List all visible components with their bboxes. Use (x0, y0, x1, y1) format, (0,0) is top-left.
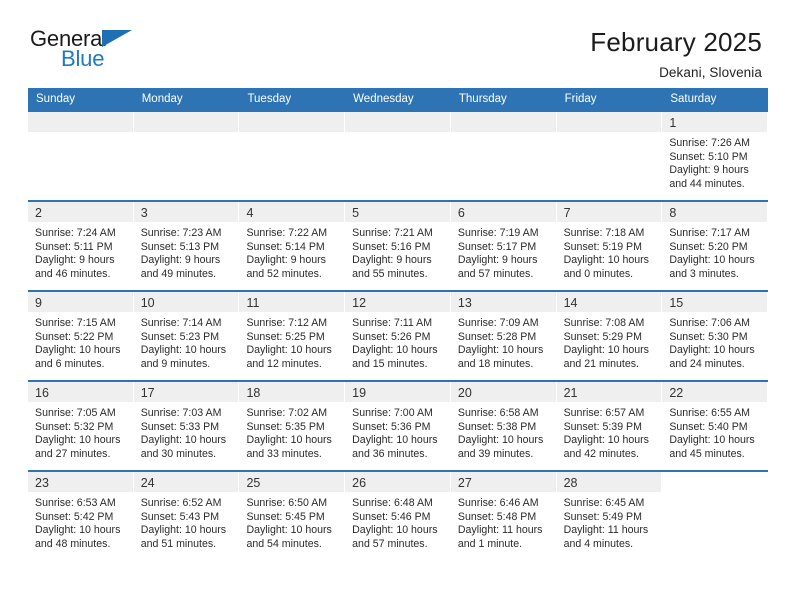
calendar-day-cell-empty (451, 112, 557, 200)
calendar-week-row: 23Sunrise: 6:53 AMSunset: 5:42 PMDayligh… (28, 470, 768, 560)
day-number: 13 (451, 292, 556, 312)
sunset-text: Sunset: 5:38 PM (458, 421, 549, 435)
day-number-band: 6 (451, 202, 556, 222)
day-number: 23 (28, 472, 133, 492)
day-number: 17 (134, 382, 239, 402)
sunrise-text: Sunrise: 7:00 AM (352, 407, 443, 421)
sunrise-text: Sunrise: 7:14 AM (141, 317, 232, 331)
day-number-band: 13 (451, 292, 556, 312)
day-number: 15 (662, 292, 767, 312)
sunrise-text: Sunrise: 7:09 AM (458, 317, 549, 331)
day-number-band: 28 (557, 472, 662, 492)
daylight-text: Daylight: 10 hours and 27 minutes. (35, 434, 126, 461)
daylight-text: Daylight: 9 hours and 49 minutes. (141, 254, 232, 281)
day-number-band (239, 112, 344, 132)
sunrise-text: Sunrise: 6:46 AM (458, 497, 549, 511)
day-sun-info: Sunrise: 6:57 AMSunset: 5:39 PMDaylight:… (557, 402, 663, 461)
daylight-text: Daylight: 10 hours and 51 minutes. (141, 524, 232, 551)
day-number-band (134, 112, 239, 132)
calendar-day-cell[interactable]: 1Sunrise: 7:26 AMSunset: 5:10 PMDaylight… (662, 112, 768, 200)
daylight-text: Daylight: 10 hours and 54 minutes. (246, 524, 337, 551)
day-number: 3 (134, 202, 239, 222)
daylight-text: Daylight: 10 hours and 33 minutes. (246, 434, 337, 461)
sunset-text: Sunset: 5:23 PM (141, 331, 232, 345)
weekday-header-row: Sunday Monday Tuesday Wednesday Thursday… (28, 88, 768, 110)
day-sun-info: Sunrise: 7:08 AMSunset: 5:29 PMDaylight:… (557, 312, 663, 371)
calendar-day-cell[interactable]: 23Sunrise: 6:53 AMSunset: 5:42 PMDayligh… (28, 472, 134, 560)
calendar-day-cell[interactable]: 25Sunrise: 6:50 AMSunset: 5:45 PMDayligh… (239, 472, 345, 560)
sunrise-text: Sunrise: 7:23 AM (141, 227, 232, 241)
day-number: 26 (345, 472, 450, 492)
sunset-text: Sunset: 5:29 PM (564, 331, 655, 345)
calendar-day-cell-empty (662, 472, 768, 560)
day-sun-info: Sunrise: 7:15 AMSunset: 5:22 PMDaylight:… (28, 312, 134, 371)
daylight-text: Daylight: 9 hours and 57 minutes. (458, 254, 549, 281)
sunset-text: Sunset: 5:10 PM (669, 151, 760, 165)
calendar-day-cell-empty (345, 112, 451, 200)
day-sun-info: Sunrise: 7:02 AMSunset: 5:35 PMDaylight:… (239, 402, 345, 461)
day-number (557, 112, 662, 114)
day-number: 6 (451, 202, 556, 222)
calendar-day-cell[interactable]: 22Sunrise: 6:55 AMSunset: 5:40 PMDayligh… (662, 382, 768, 470)
sunrise-text: Sunrise: 6:48 AM (352, 497, 443, 511)
sunrise-text: Sunrise: 6:52 AM (141, 497, 232, 511)
sunset-text: Sunset: 5:19 PM (564, 241, 655, 255)
day-sun-info: Sunrise: 7:06 AMSunset: 5:30 PMDaylight:… (662, 312, 768, 371)
calendar-day-cell[interactable]: 24Sunrise: 6:52 AMSunset: 5:43 PMDayligh… (134, 472, 240, 560)
daylight-text: Daylight: 10 hours and 42 minutes. (564, 434, 655, 461)
sunrise-text: Sunrise: 6:50 AM (246, 497, 337, 511)
day-number (239, 112, 344, 114)
day-number-band (345, 112, 450, 132)
daylight-text: Daylight: 9 hours and 55 minutes. (352, 254, 443, 281)
day-number: 2 (28, 202, 133, 222)
sunrise-text: Sunrise: 7:22 AM (246, 227, 337, 241)
day-number-band: 16 (28, 382, 133, 402)
calendar-day-cell-empty (239, 112, 345, 200)
triangle-icon (102, 30, 132, 47)
sunrise-text: Sunrise: 7:12 AM (246, 317, 337, 331)
calendar-day-cell[interactable]: 14Sunrise: 7:08 AMSunset: 5:29 PMDayligh… (557, 292, 663, 380)
day-number-band: 22 (662, 382, 767, 402)
day-number-band: 25 (239, 472, 344, 492)
day-number: 21 (557, 382, 662, 402)
calendar-day-cell[interactable]: 26Sunrise: 6:48 AMSunset: 5:46 PMDayligh… (345, 472, 451, 560)
calendar-day-cell[interactable]: 18Sunrise: 7:02 AMSunset: 5:35 PMDayligh… (239, 382, 345, 470)
day-sun-info: Sunrise: 7:23 AMSunset: 5:13 PMDaylight:… (134, 222, 240, 281)
day-number: 8 (662, 202, 767, 222)
sunrise-text: Sunrise: 6:45 AM (564, 497, 655, 511)
calendar-day-cell[interactable]: 15Sunrise: 7:06 AMSunset: 5:30 PMDayligh… (662, 292, 768, 380)
sunset-text: Sunset: 5:36 PM (352, 421, 443, 435)
sunrise-text: Sunrise: 7:24 AM (35, 227, 126, 241)
weekday-header-monday: Monday (134, 88, 240, 110)
daylight-text: Daylight: 11 hours and 1 minute. (458, 524, 549, 551)
day-sun-info: Sunrise: 6:48 AMSunset: 5:46 PMDaylight:… (345, 492, 451, 551)
sunset-text: Sunset: 5:32 PM (35, 421, 126, 435)
daylight-text: Daylight: 10 hours and 45 minutes. (669, 434, 760, 461)
daylight-text: Daylight: 10 hours and 36 minutes. (352, 434, 443, 461)
calendar-day-cell-empty (134, 112, 240, 200)
weekday-header-sunday: Sunday (28, 88, 134, 110)
day-number-band: 19 (345, 382, 450, 402)
weekday-header-saturday: Saturday (662, 88, 768, 110)
sunset-text: Sunset: 5:14 PM (246, 241, 337, 255)
day-number-band: 4 (239, 202, 344, 222)
sunrise-text: Sunrise: 7:18 AM (564, 227, 655, 241)
daylight-text: Daylight: 10 hours and 39 minutes. (458, 434, 549, 461)
sunset-text: Sunset: 5:11 PM (35, 241, 126, 255)
sunset-text: Sunset: 5:28 PM (458, 331, 549, 345)
day-number-band: 12 (345, 292, 450, 312)
calendar-day-cell[interactable]: 20Sunrise: 6:58 AMSunset: 5:38 PMDayligh… (451, 382, 557, 470)
weekday-header-friday: Friday (557, 88, 663, 110)
day-number-band: 3 (134, 202, 239, 222)
day-number-band: 1 (662, 112, 767, 132)
page-header: General Blue February 2025 Dekani, Slove… (0, 0, 792, 78)
calendar-day-cell[interactable]: 17Sunrise: 7:03 AMSunset: 5:33 PMDayligh… (134, 382, 240, 470)
day-number-band (557, 112, 662, 132)
day-sun-info: Sunrise: 7:14 AMSunset: 5:23 PMDaylight:… (134, 312, 240, 371)
sunrise-text: Sunrise: 7:21 AM (352, 227, 443, 241)
daylight-text: Daylight: 10 hours and 18 minutes. (458, 344, 549, 371)
sunrise-text: Sunrise: 7:19 AM (458, 227, 549, 241)
day-sun-info: Sunrise: 6:52 AMSunset: 5:43 PMDaylight:… (134, 492, 240, 551)
general-blue-logo[interactable]: General Blue (30, 26, 150, 74)
day-number: 28 (557, 472, 662, 492)
day-sun-info: Sunrise: 6:46 AMSunset: 5:48 PMDaylight:… (451, 492, 557, 551)
sunset-text: Sunset: 5:42 PM (35, 511, 126, 525)
calendar-day-cell-empty (28, 112, 134, 200)
sunrise-text: Sunrise: 7:06 AM (669, 317, 760, 331)
calendar-day-cell[interactable]: 12Sunrise: 7:11 AMSunset: 5:26 PMDayligh… (345, 292, 451, 380)
day-number: 14 (557, 292, 662, 312)
daylight-text: Daylight: 10 hours and 57 minutes. (352, 524, 443, 551)
day-sun-info: Sunrise: 6:53 AMSunset: 5:42 PMDaylight:… (28, 492, 134, 551)
sunset-text: Sunset: 5:33 PM (141, 421, 232, 435)
sunset-text: Sunset: 5:45 PM (246, 511, 337, 525)
daylight-text: Daylight: 10 hours and 24 minutes. (669, 344, 760, 371)
day-number-band: 14 (557, 292, 662, 312)
day-number: 19 (345, 382, 450, 402)
sunset-text: Sunset: 5:22 PM (35, 331, 126, 345)
page-subtitle: Dekani, Slovenia (590, 65, 762, 80)
day-sun-info: Sunrise: 7:09 AMSunset: 5:28 PMDaylight:… (451, 312, 557, 371)
sunrise-text: Sunrise: 7:05 AM (35, 407, 126, 421)
day-number-band (28, 112, 133, 132)
day-number-band (662, 472, 767, 492)
day-sun-info: Sunrise: 6:55 AMSunset: 5:40 PMDaylight:… (662, 402, 768, 461)
calendar-day-cell[interactable]: 4Sunrise: 7:22 AMSunset: 5:14 PMDaylight… (239, 202, 345, 290)
day-sun-info: Sunrise: 7:21 AMSunset: 5:16 PMDaylight:… (345, 222, 451, 281)
calendar-week-row: 16Sunrise: 7:05 AMSunset: 5:32 PMDayligh… (28, 380, 768, 470)
sunrise-text: Sunrise: 7:08 AM (564, 317, 655, 331)
daylight-text: Daylight: 10 hours and 0 minutes. (564, 254, 655, 281)
day-number (451, 112, 556, 114)
day-number: 16 (28, 382, 133, 402)
day-sun-info: Sunrise: 6:58 AMSunset: 5:38 PMDaylight:… (451, 402, 557, 461)
day-sun-info: Sunrise: 6:50 AMSunset: 5:45 PMDaylight:… (239, 492, 345, 551)
sunrise-text: Sunrise: 7:15 AM (35, 317, 126, 331)
calendar-week-row: 9Sunrise: 7:15 AMSunset: 5:22 PMDaylight… (28, 290, 768, 380)
day-number (134, 112, 239, 114)
sunset-text: Sunset: 5:25 PM (246, 331, 337, 345)
daylight-text: Daylight: 10 hours and 9 minutes. (141, 344, 232, 371)
day-sun-info: Sunrise: 7:18 AMSunset: 5:19 PMDaylight:… (557, 222, 663, 281)
sunrise-text: Sunrise: 7:26 AM (669, 137, 760, 151)
calendar-day-cell[interactable]: 9Sunrise: 7:15 AMSunset: 5:22 PMDaylight… (28, 292, 134, 380)
day-sun-info: Sunrise: 7:19 AMSunset: 5:17 PMDaylight:… (451, 222, 557, 281)
day-number-band: 15 (662, 292, 767, 312)
weekday-header-wednesday: Wednesday (345, 88, 451, 110)
day-number-band: 18 (239, 382, 344, 402)
day-number: 5 (345, 202, 450, 222)
day-sun-info: Sunrise: 7:05 AMSunset: 5:32 PMDaylight:… (28, 402, 134, 461)
sunrise-text: Sunrise: 6:57 AM (564, 407, 655, 421)
sunset-text: Sunset: 5:48 PM (458, 511, 549, 525)
day-sun-info: Sunrise: 7:22 AMSunset: 5:14 PMDaylight:… (239, 222, 345, 281)
day-number: 27 (451, 472, 556, 492)
day-number (28, 112, 133, 114)
calendar-day-cell-empty (557, 112, 663, 200)
calendar-day-cell[interactable]: 27Sunrise: 6:46 AMSunset: 5:48 PMDayligh… (451, 472, 557, 560)
sunrise-text: Sunrise: 6:58 AM (458, 407, 549, 421)
day-number-band: 7 (557, 202, 662, 222)
sunrise-text: Sunrise: 7:17 AM (669, 227, 760, 241)
calendar-day-cell[interactable]: 19Sunrise: 7:00 AMSunset: 5:36 PMDayligh… (345, 382, 451, 470)
sunrise-text: Sunrise: 7:02 AM (246, 407, 337, 421)
day-number: 1 (662, 112, 767, 132)
sunset-text: Sunset: 5:17 PM (458, 241, 549, 255)
calendar-day-cell[interactable]: 10Sunrise: 7:14 AMSunset: 5:23 PMDayligh… (134, 292, 240, 380)
day-sun-info: Sunrise: 7:12 AMSunset: 5:25 PMDaylight:… (239, 312, 345, 371)
day-number (345, 112, 450, 114)
day-number-band: 11 (239, 292, 344, 312)
day-number-band: 27 (451, 472, 556, 492)
logo-text-blue: Blue (61, 46, 104, 72)
calendar-week-row: 1Sunrise: 7:26 AMSunset: 5:10 PMDaylight… (28, 110, 768, 200)
day-number-band: 17 (134, 382, 239, 402)
day-number-band: 20 (451, 382, 556, 402)
day-number: 24 (134, 472, 239, 492)
day-number-band: 23 (28, 472, 133, 492)
day-sun-info: Sunrise: 7:03 AMSunset: 5:33 PMDaylight:… (134, 402, 240, 461)
day-sun-info: Sunrise: 7:24 AMSunset: 5:11 PMDaylight:… (28, 222, 134, 281)
daylight-text: Daylight: 10 hours and 15 minutes. (352, 344, 443, 371)
day-sun-info: Sunrise: 6:45 AMSunset: 5:49 PMDaylight:… (557, 492, 663, 551)
calendar-grid: Sunday Monday Tuesday Wednesday Thursday… (28, 88, 768, 560)
daylight-text: Daylight: 9 hours and 52 minutes. (246, 254, 337, 281)
day-number: 25 (239, 472, 344, 492)
sunset-text: Sunset: 5:20 PM (669, 241, 760, 255)
day-number-band: 8 (662, 202, 767, 222)
calendar-weeks: 1Sunrise: 7:26 AMSunset: 5:10 PMDaylight… (28, 110, 768, 560)
calendar-day-cell[interactable]: 3Sunrise: 7:23 AMSunset: 5:13 PMDaylight… (134, 202, 240, 290)
sunset-text: Sunset: 5:16 PM (352, 241, 443, 255)
calendar-day-cell[interactable]: 13Sunrise: 7:09 AMSunset: 5:28 PMDayligh… (451, 292, 557, 380)
daylight-text: Daylight: 10 hours and 30 minutes. (141, 434, 232, 461)
sunset-text: Sunset: 5:30 PM (669, 331, 760, 345)
day-number: 20 (451, 382, 556, 402)
day-number-band: 5 (345, 202, 450, 222)
daylight-text: Daylight: 10 hours and 3 minutes. (669, 254, 760, 281)
sunset-text: Sunset: 5:49 PM (564, 511, 655, 525)
day-number-band: 26 (345, 472, 450, 492)
daylight-text: Daylight: 10 hours and 6 minutes. (35, 344, 126, 371)
sunset-text: Sunset: 5:43 PM (141, 511, 232, 525)
calendar-day-cell[interactable]: 8Sunrise: 7:17 AMSunset: 5:20 PMDaylight… (662, 202, 768, 290)
sunset-text: Sunset: 5:46 PM (352, 511, 443, 525)
day-number: 7 (557, 202, 662, 222)
daylight-text: Daylight: 10 hours and 12 minutes. (246, 344, 337, 371)
day-sun-info: Sunrise: 7:26 AMSunset: 5:10 PMDaylight:… (662, 132, 768, 191)
weekday-header-thursday: Thursday (451, 88, 557, 110)
sunrise-text: Sunrise: 7:11 AM (352, 317, 443, 331)
calendar-day-cell[interactable]: 16Sunrise: 7:05 AMSunset: 5:32 PMDayligh… (28, 382, 134, 470)
title-block: February 2025 Dekani, Slovenia (590, 26, 762, 80)
sunrise-text: Sunrise: 6:53 AM (35, 497, 126, 511)
sunset-text: Sunset: 5:40 PM (669, 421, 760, 435)
day-number-band: 21 (557, 382, 662, 402)
day-number: 12 (345, 292, 450, 312)
calendar-day-cell[interactable]: 7Sunrise: 7:18 AMSunset: 5:19 PMDaylight… (557, 202, 663, 290)
day-number-band: 24 (134, 472, 239, 492)
daylight-text: Daylight: 9 hours and 44 minutes. (669, 164, 760, 191)
day-sun-info: Sunrise: 7:17 AMSunset: 5:20 PMDaylight:… (662, 222, 768, 281)
sunset-text: Sunset: 5:26 PM (352, 331, 443, 345)
weekday-header-tuesday: Tuesday (239, 88, 345, 110)
page-title: February 2025 (590, 28, 762, 57)
day-sun-info: Sunrise: 7:00 AMSunset: 5:36 PMDaylight:… (345, 402, 451, 461)
sunset-text: Sunset: 5:35 PM (246, 421, 337, 435)
day-number: 22 (662, 382, 767, 402)
day-number-band (451, 112, 556, 132)
day-number: 4 (239, 202, 344, 222)
day-number: 18 (239, 382, 344, 402)
calendar-week-row: 2Sunrise: 7:24 AMSunset: 5:11 PMDaylight… (28, 200, 768, 290)
day-number-band: 2 (28, 202, 133, 222)
daylight-text: Daylight: 11 hours and 4 minutes. (564, 524, 655, 551)
calendar-page: General Blue February 2025 Dekani, Slove… (0, 0, 792, 612)
day-number-band: 9 (28, 292, 133, 312)
sunrise-text: Sunrise: 6:55 AM (669, 407, 760, 421)
day-number: 9 (28, 292, 133, 312)
calendar-day-cell[interactable]: 5Sunrise: 7:21 AMSunset: 5:16 PMDaylight… (345, 202, 451, 290)
day-number: 11 (239, 292, 344, 312)
sunset-text: Sunset: 5:39 PM (564, 421, 655, 435)
daylight-text: Daylight: 10 hours and 21 minutes. (564, 344, 655, 371)
day-sun-info: Sunrise: 7:11 AMSunset: 5:26 PMDaylight:… (345, 312, 451, 371)
daylight-text: Daylight: 10 hours and 48 minutes. (35, 524, 126, 551)
sunset-text: Sunset: 5:13 PM (141, 241, 232, 255)
day-number-band: 10 (134, 292, 239, 312)
calendar-day-cell[interactable]: 21Sunrise: 6:57 AMSunset: 5:39 PMDayligh… (557, 382, 663, 470)
calendar-day-cell[interactable]: 11Sunrise: 7:12 AMSunset: 5:25 PMDayligh… (239, 292, 345, 380)
sunrise-text: Sunrise: 7:03 AM (141, 407, 232, 421)
calendar-day-cell[interactable]: 28Sunrise: 6:45 AMSunset: 5:49 PMDayligh… (557, 472, 663, 560)
day-number: 10 (134, 292, 239, 312)
daylight-text: Daylight: 9 hours and 46 minutes. (35, 254, 126, 281)
calendar-day-cell[interactable]: 2Sunrise: 7:24 AMSunset: 5:11 PMDaylight… (28, 202, 134, 290)
calendar-day-cell[interactable]: 6Sunrise: 7:19 AMSunset: 5:17 PMDaylight… (451, 202, 557, 290)
day-number (662, 472, 767, 474)
